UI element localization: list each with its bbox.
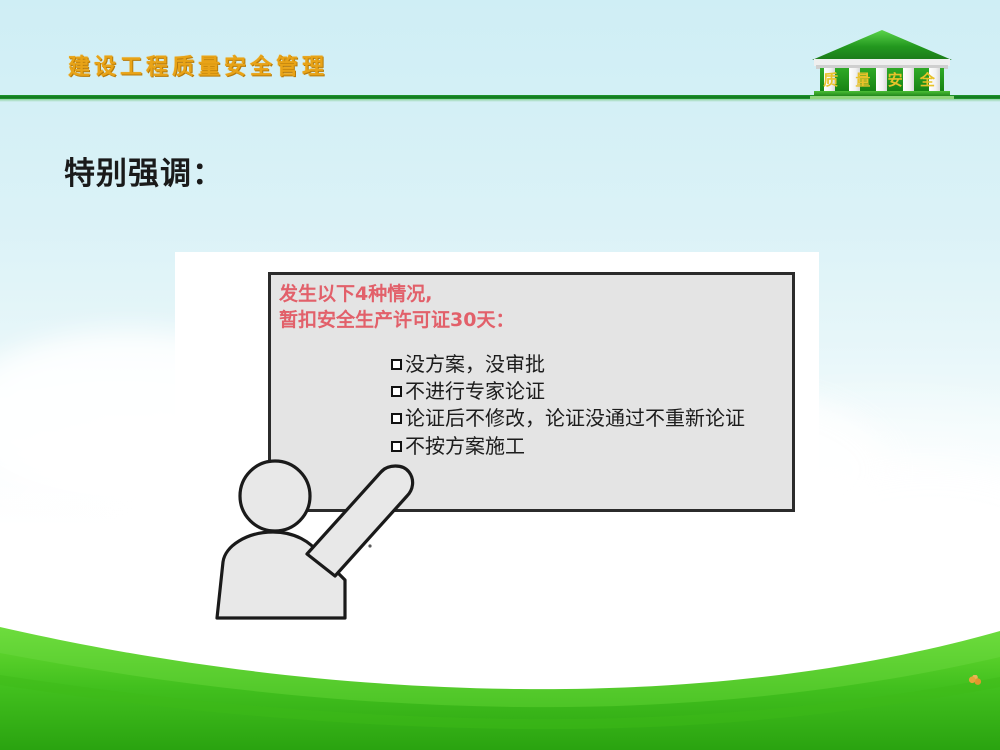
warning-line-2: 暂扣安全生产许可证30天：	[279, 307, 514, 333]
checkbox-square-icon	[391, 386, 402, 397]
list-item-label: 论证后不修改，论证没通过不重新论证	[405, 405, 745, 432]
violation-list: 没方案，没审批 不进行专家论证 论证后不修改，论证没通过不重新论证 不按方案施工	[391, 351, 745, 460]
warning-line-1: 发生以下4种情况,	[279, 281, 514, 307]
list-item: 不进行专家论证	[391, 378, 745, 405]
pointing-person-illustration	[195, 450, 455, 620]
list-item: 没方案，没审批	[391, 351, 745, 378]
list-item: 论证后不修改，论证没通过不重新论证	[391, 405, 745, 432]
dot-mark	[368, 544, 371, 547]
illustration-panel: 发生以下4种情况, 暂扣安全生产许可证30天： 没方案，没审批 不进行专家论证 …	[175, 252, 819, 620]
quality-safety-temple-logo: 质 量 安 全	[806, 26, 958, 100]
list-item-label: 不进行专家论证	[405, 378, 545, 405]
header-title: 建设工程质量安全管理	[68, 57, 328, 79]
checkbox-square-icon	[391, 413, 402, 424]
grass-footer	[0, 605, 1000, 750]
list-item-label: 没方案，没审批	[405, 351, 545, 378]
checkbox-square-icon	[391, 359, 402, 370]
slide-header: 建设工程质量安全管理	[0, 0, 1000, 105]
flower-decoration	[968, 675, 982, 687]
presentation-slide: 建设工程质量安全管理	[0, 0, 1000, 750]
warning-text: 发生以下4种情况, 暂扣安全生产许可证30天：	[279, 281, 514, 333]
logo-text: 质 量 安 全	[823, 71, 941, 89]
page-title: 特别强调：	[64, 148, 224, 193]
